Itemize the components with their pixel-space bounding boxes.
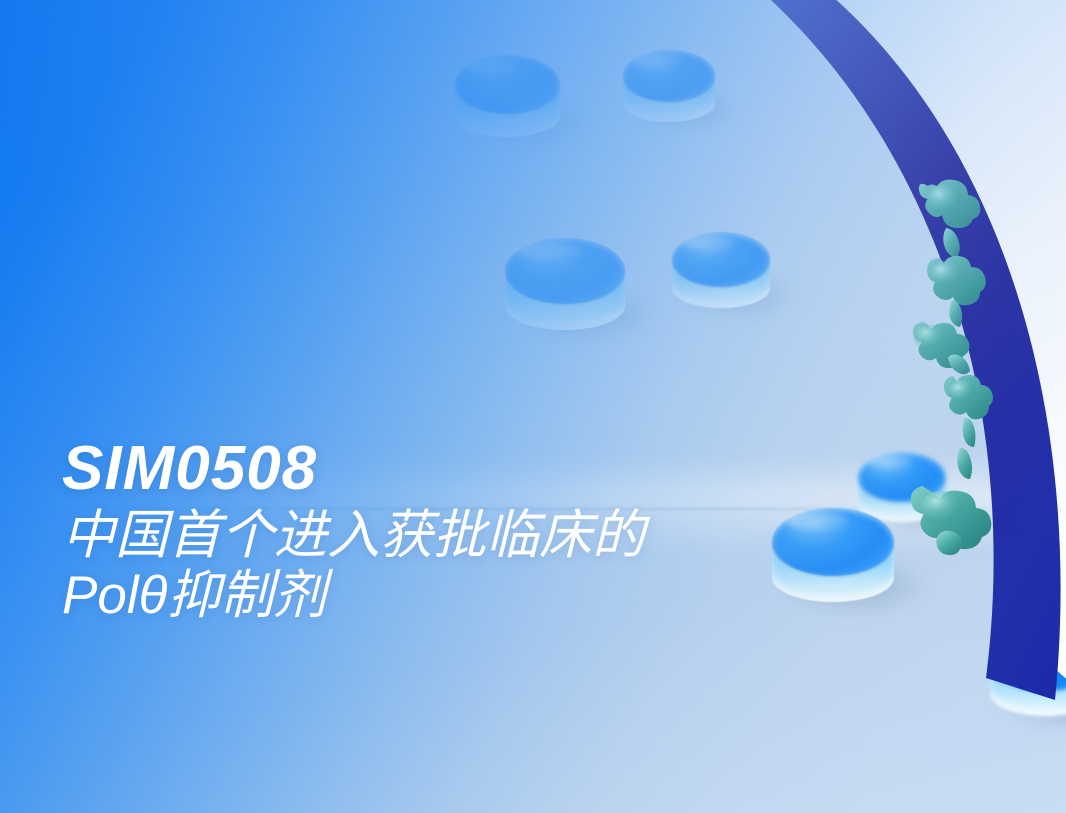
promo-poster: SIM0508 中国首个进入获批临床的 Polθ抑制剂 [0,0,1066,813]
headline-block: SIM0508 中国首个进入获批临床的 Polθ抑制剂 [62,437,882,625]
product-name-headline: SIM0508 [62,437,882,500]
product-subtitle: 中国首个进入获批临床的 Polθ抑制剂 [62,506,882,625]
protein-molecule-icon [884,160,1034,580]
